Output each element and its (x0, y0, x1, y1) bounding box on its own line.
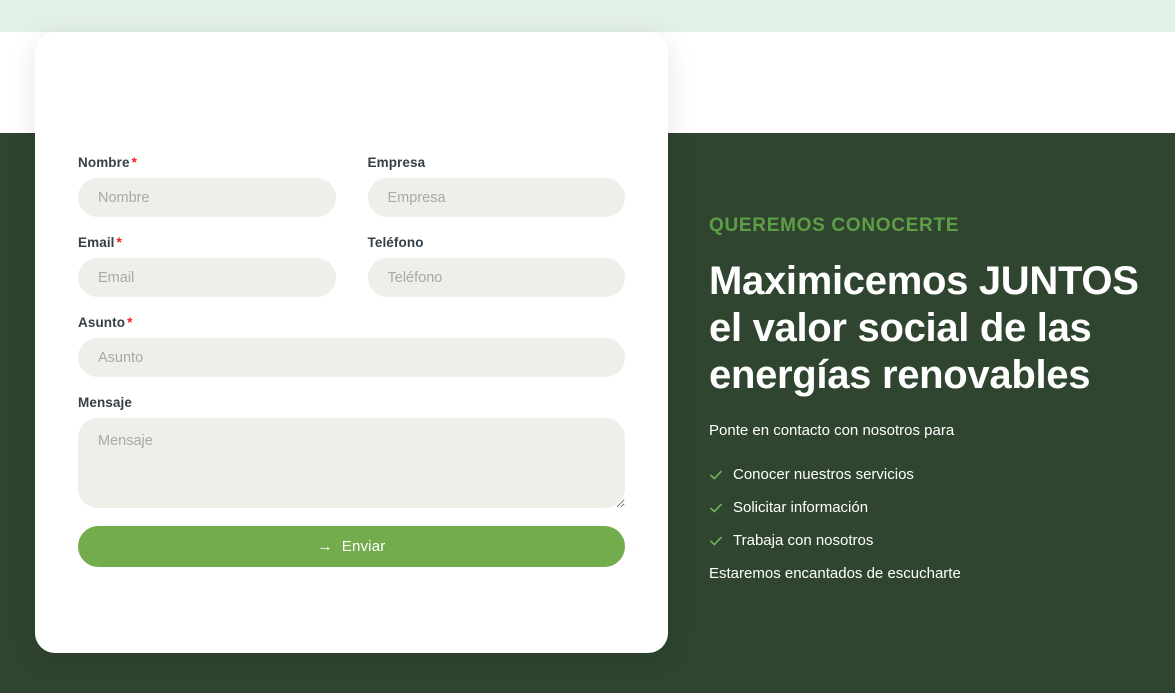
eyebrow-heading: QUEREMOS CONOCERTE (709, 215, 1159, 237)
contact-form-card: Nombre* Empresa Email* (35, 32, 668, 653)
check-icon (709, 468, 723, 482)
field-empresa: Empresa (368, 155, 626, 217)
form-row-1: Nombre* Empresa (78, 155, 625, 217)
contact-form: Nombre* Empresa Email* (78, 155, 625, 567)
check-icon (709, 501, 723, 515)
label-asunto: Asunto* (78, 315, 625, 331)
list-item: Conocer nuestros servicios (709, 465, 1159, 484)
list-item-label: Conocer nuestros servicios (733, 465, 914, 484)
contact-page: Nombre* Empresa Email* (0, 0, 1175, 693)
label-telefono: Teléfono (368, 235, 626, 251)
label-email-text: Email (78, 235, 115, 250)
input-mensaje[interactable] (78, 418, 625, 508)
input-email[interactable] (78, 258, 336, 297)
top-mint-band (0, 0, 1175, 32)
required-marker-asunto: * (127, 315, 132, 330)
list-item-label: Solicitar información (733, 498, 868, 517)
submit-row: → Enviar (78, 526, 625, 567)
send-button-label: Enviar (342, 538, 386, 555)
label-nombre-text: Nombre (78, 155, 130, 170)
field-mensaje: Mensaje (78, 395, 625, 508)
form-row-2: Email* Teléfono (78, 235, 625, 297)
required-marker-nombre: * (132, 155, 137, 170)
label-telefono-text: Teléfono (368, 235, 424, 250)
list-item-label: Trabaja con nosotros (733, 531, 873, 550)
spacer-2 (78, 297, 625, 315)
check-icon (709, 534, 723, 548)
lead-text: Ponte en contacto con nosotros para (709, 421, 1159, 441)
label-mensaje-text: Mensaje (78, 395, 132, 410)
input-nombre[interactable] (78, 178, 336, 217)
label-mensaje: Mensaje (78, 395, 625, 411)
input-telefono[interactable] (368, 258, 626, 297)
label-nombre: Nombre* (78, 155, 336, 171)
input-asunto[interactable] (78, 338, 625, 377)
closing-text: Estaremos encantados de escucharte (709, 564, 1159, 584)
list-item: Solicitar información (709, 498, 1159, 517)
send-button[interactable]: → Enviar (78, 526, 625, 567)
spacer-3 (78, 377, 625, 395)
label-asunto-text: Asunto (78, 315, 125, 330)
field-email: Email* (78, 235, 336, 297)
page-title: Maximicemos JUNTOS el valor social de la… (709, 258, 1159, 399)
benefits-list: Conocer nuestros servicios Solicitar inf… (709, 465, 1159, 550)
label-empresa: Empresa (368, 155, 626, 171)
required-marker-email: * (117, 235, 122, 250)
list-item: Trabaja con nosotros (709, 531, 1159, 550)
spacer-1 (78, 217, 625, 235)
label-email: Email* (78, 235, 336, 251)
input-empresa[interactable] (368, 178, 626, 217)
field-telefono: Teléfono (368, 235, 626, 297)
label-empresa-text: Empresa (368, 155, 426, 170)
info-panel: QUEREMOS CONOCERTE Maximicemos JUNTOS el… (709, 133, 1159, 584)
field-asunto: Asunto* (78, 315, 625, 377)
field-nombre: Nombre* (78, 155, 336, 217)
arrow-right-icon: → (318, 539, 333, 554)
